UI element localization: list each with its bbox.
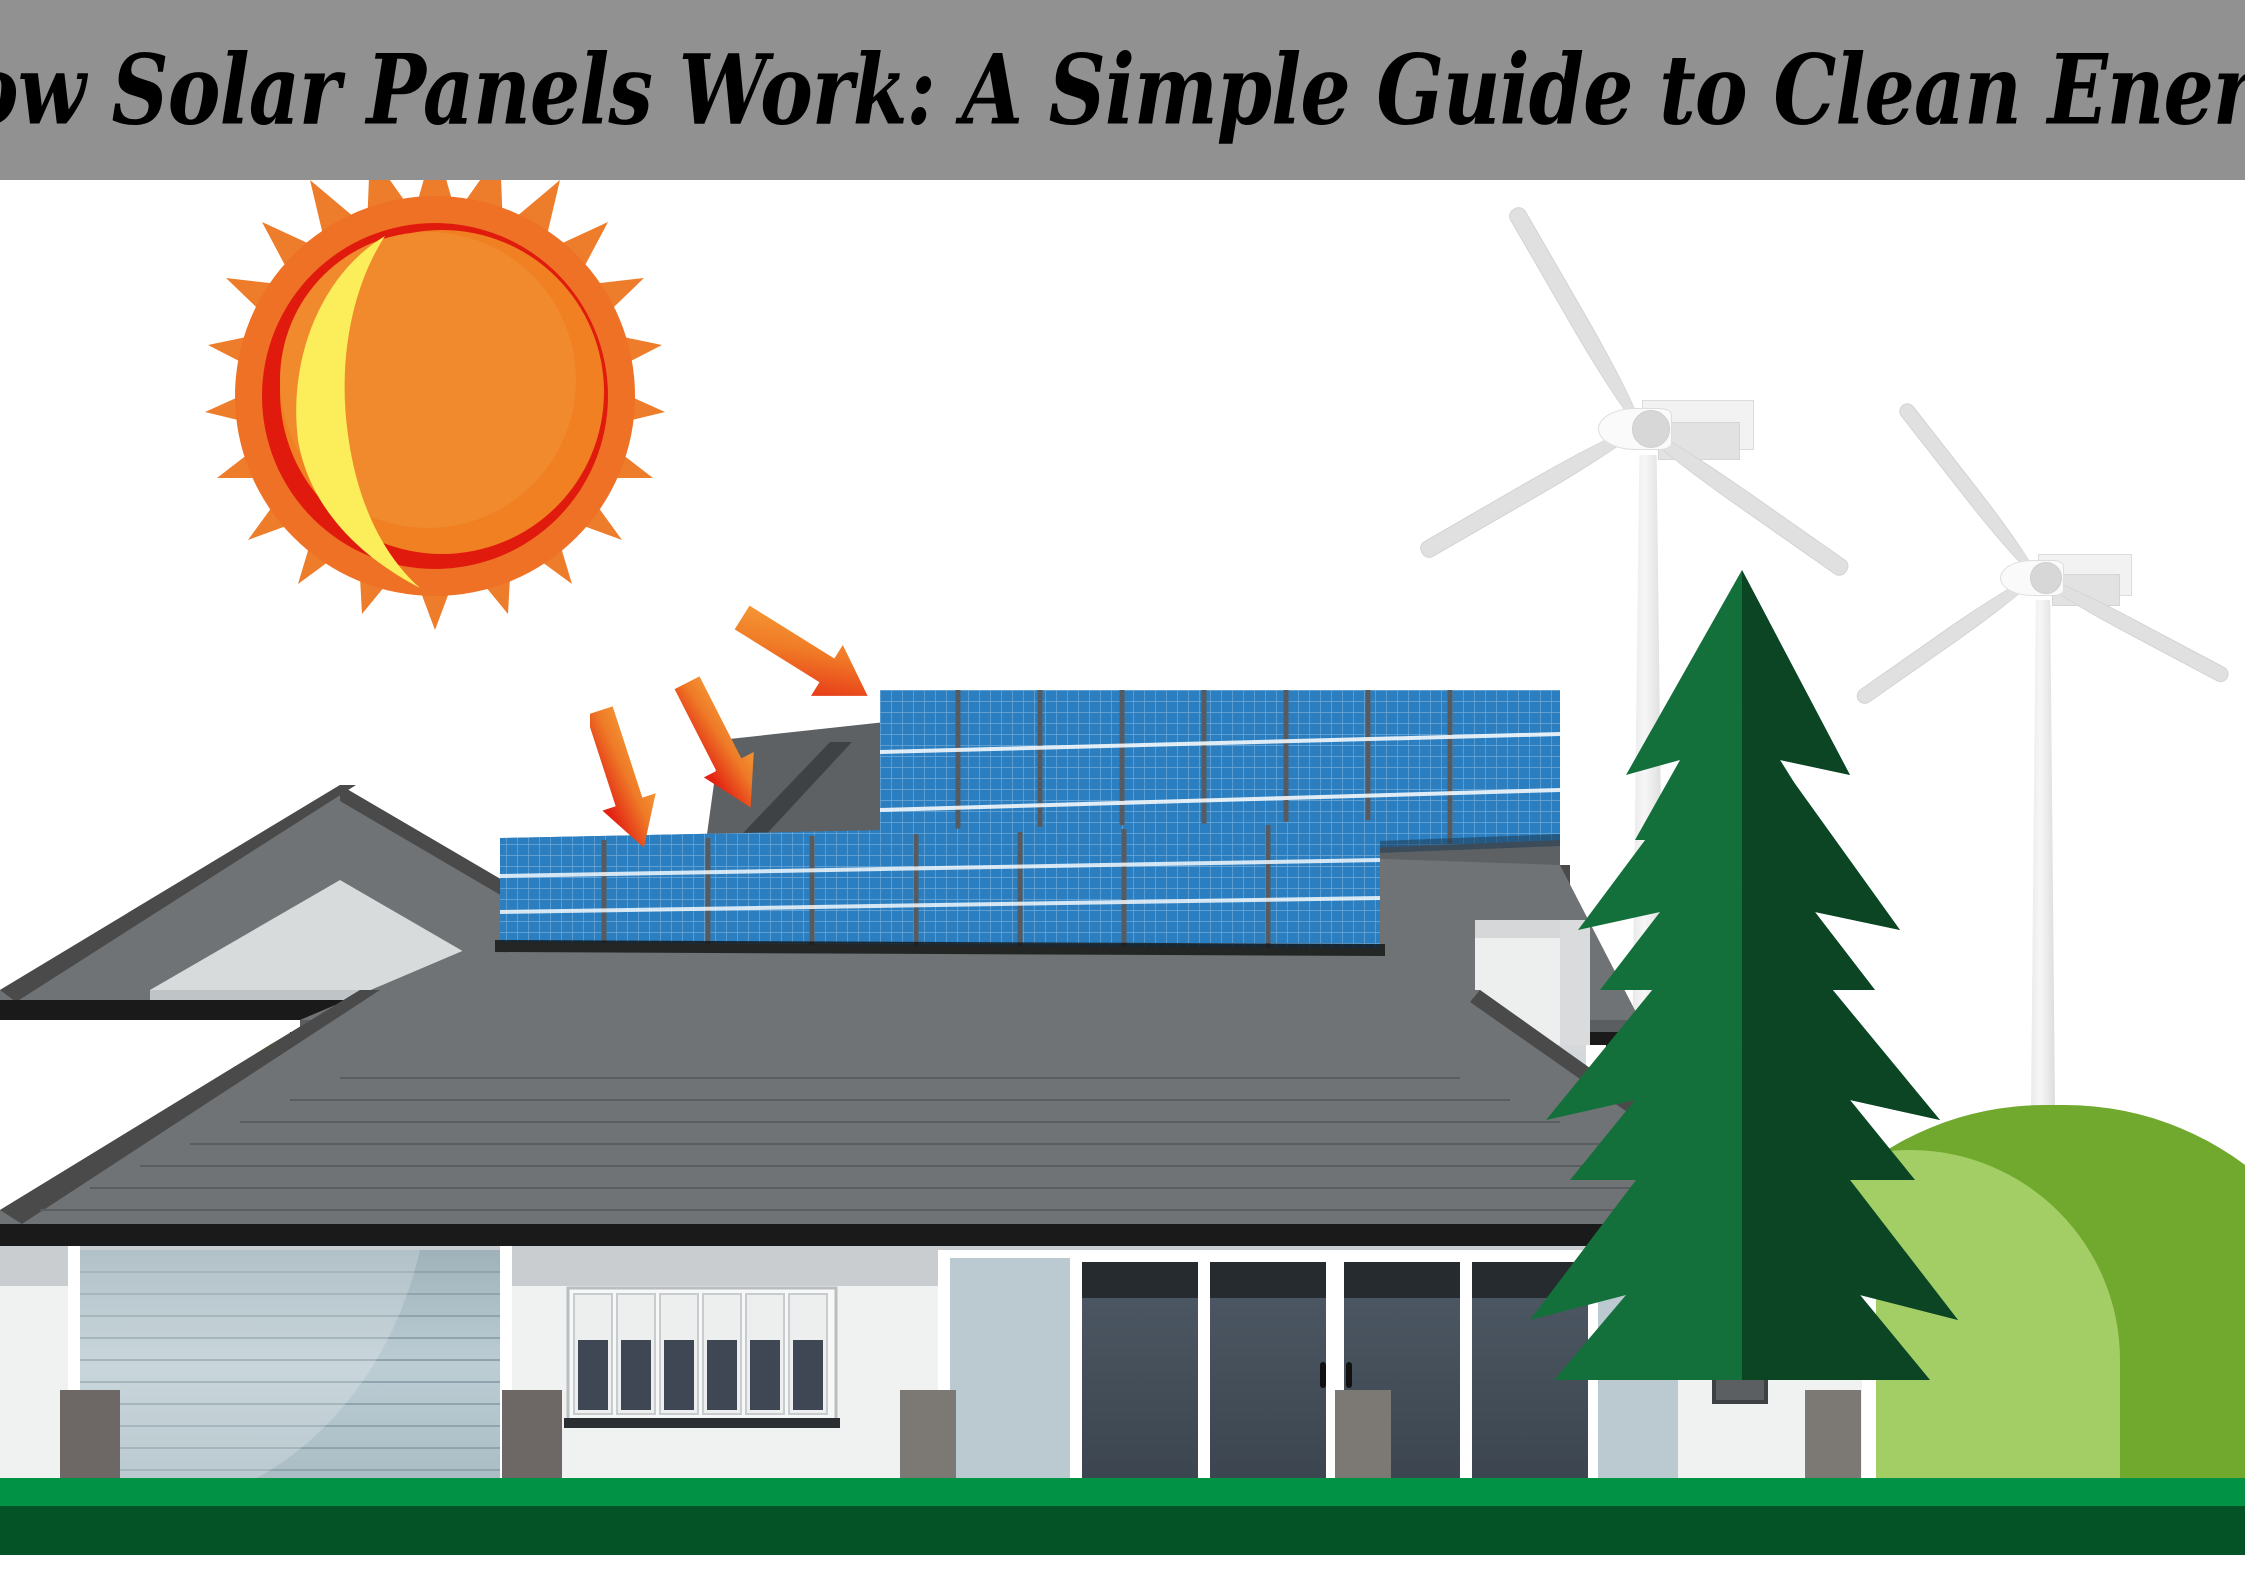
turbine-hub — [2030, 562, 2062, 594]
page-title: How Solar Panels Work: A Simple Guide to… — [0, 33, 2245, 146]
title-banner: How Solar Panels Work: A Simple Guide to… — [0, 0, 2245, 180]
illustration-canvas: How Solar Panels Work: A Simple Guide to… — [0, 0, 2245, 1587]
sunlight-arrows — [590, 560, 1010, 880]
garage-door — [68, 1246, 512, 1508]
turbine-hub — [1632, 410, 1670, 448]
lawn-band-light — [0, 1478, 2245, 1506]
turbine-blade-1 — [1506, 204, 1648, 431]
sunlight-arrow-3 — [590, 702, 670, 856]
pine-tree — [1530, 560, 1960, 1390]
ground-window — [564, 1288, 840, 1428]
sunlight-arrow-1 — [726, 592, 883, 721]
turbine-blade-1 — [1896, 400, 2042, 581]
lawn-band-dark — [0, 1500, 2245, 1555]
sunlight-arrow-2 — [662, 670, 775, 820]
